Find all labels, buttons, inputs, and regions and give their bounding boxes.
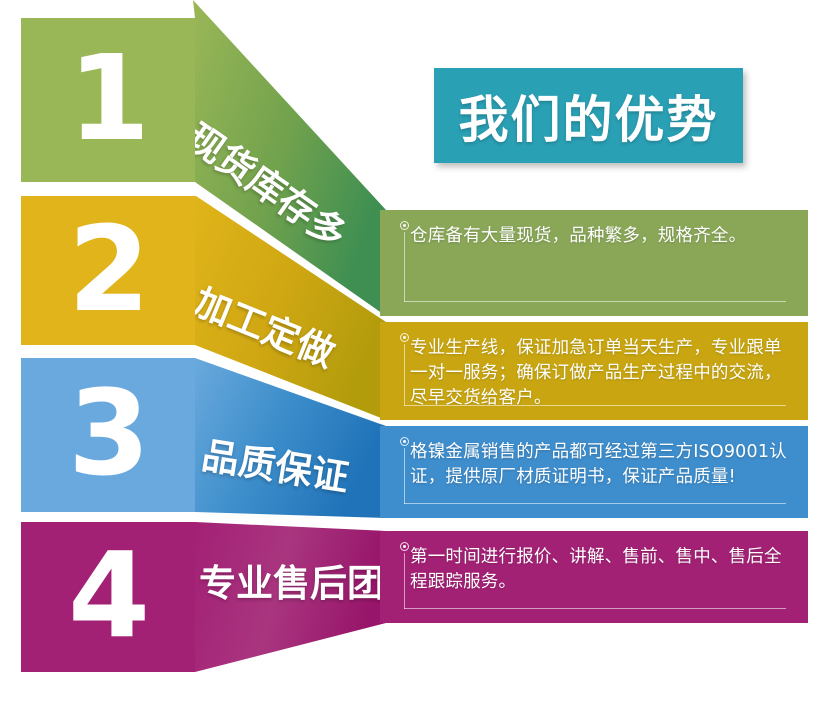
description-text-1: 仓库备有大量现货，品种繁多，规格齐全。: [410, 224, 790, 249]
description-panel-3[interactable]: 格镍金属销售的产品都可经过第三方ISO9001认证，提供原厂材质证明书，保证产品…: [380, 426, 808, 518]
dot-marker-icon: [400, 221, 409, 230]
step-number-4: 4: [68, 536, 148, 654]
infographic-canvas: 现货库存多 加工定做 品质保证 专业售后团队 1 2 3 4 仓库备有大量现货，…: [0, 0, 830, 707]
description-panel-2[interactable]: 专业生产线，保证加急订单当天生产，专业跟单一对一服务；确保订做产品生产过程中的交…: [380, 322, 808, 420]
step-number-block-3[interactable]: 3: [21, 358, 195, 512]
panel-vertical-rule: [404, 448, 405, 504]
dot-marker-icon: [400, 333, 409, 342]
headline-banner: 我们的优势: [434, 68, 743, 163]
panel-vertical-rule: [404, 232, 405, 302]
dot-marker-icon: [400, 437, 409, 446]
panel-horizontal-rule: [404, 503, 786, 504]
step-number-2: 2: [68, 210, 148, 328]
step-number-block-4[interactable]: 4: [21, 522, 195, 672]
panel-horizontal-rule: [404, 405, 786, 406]
description-text-4: 第一时间进行报价、讲解、售前、售中、售后全程跟踪服务。: [410, 545, 790, 595]
step-number-block-1[interactable]: 1: [21, 18, 195, 182]
description-panel-1[interactable]: 仓库备有大量现货，品种繁多，规格齐全。: [380, 210, 808, 316]
panel-horizontal-rule: [404, 301, 786, 302]
step-number-block-2[interactable]: 2: [21, 196, 195, 345]
panel-vertical-rule: [404, 344, 405, 406]
step-number-3: 3: [68, 374, 148, 492]
panel-horizontal-rule: [404, 608, 786, 609]
description-text-2: 专业生产线，保证加急订单当天生产，专业跟单一对一服务；确保订做产品生产过程中的交…: [410, 336, 790, 411]
panel-vertical-rule: [404, 553, 405, 609]
step-number-1: 1: [68, 39, 148, 157]
description-panel-4[interactable]: 第一时间进行报价、讲解、售前、售中、售后全程跟踪服务。: [380, 531, 808, 623]
headline-text: 我们的优势: [459, 80, 719, 152]
dot-marker-icon: [400, 542, 409, 551]
description-text-3: 格镍金属销售的产品都可经过第三方ISO9001认证，提供原厂材质证明书，保证产品…: [410, 440, 790, 490]
